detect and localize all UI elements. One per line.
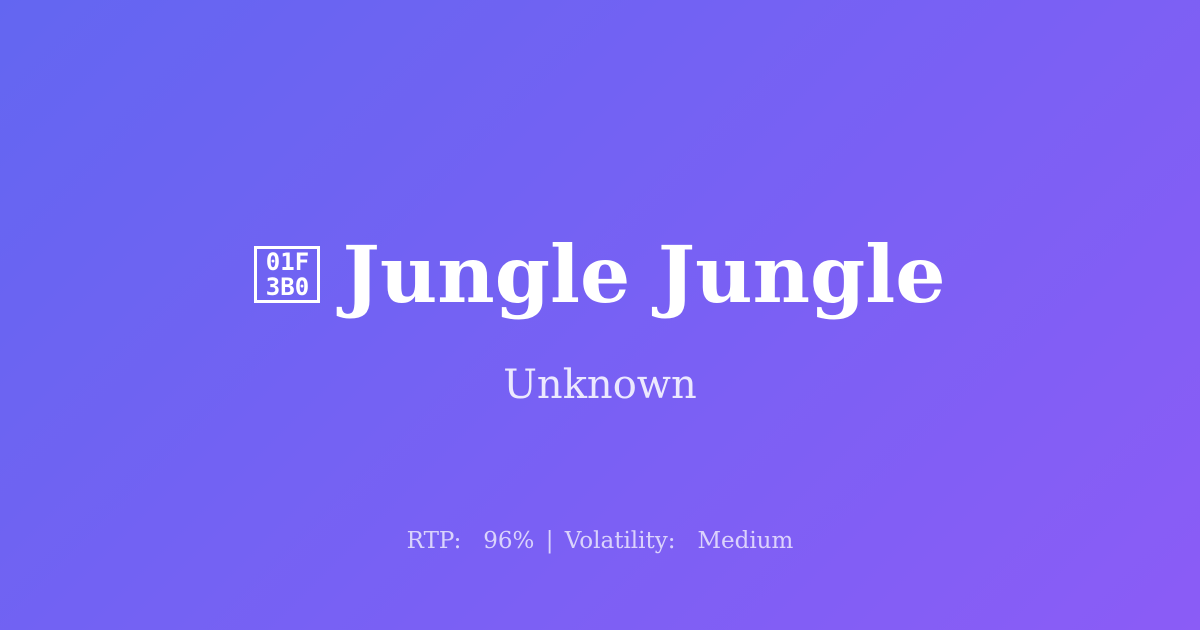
- volatility-value: Medium: [697, 528, 793, 554]
- slot-machine-emoji-icon: 01F 3B0: [254, 246, 320, 303]
- page-subtitle: Unknown: [503, 363, 697, 407]
- rtp-label: RTP:: [407, 528, 462, 554]
- rtp-value: 96%: [483, 528, 534, 554]
- stats-separator: |: [542, 528, 558, 554]
- hero-block: 01F 3B0 Jungle Jungle Unknown: [0, 232, 1200, 407]
- game-stats-line: RTP: 96% | Volatility: Medium: [0, 528, 1200, 556]
- title-row: 01F 3B0 Jungle Jungle: [0, 232, 1200, 317]
- volatility-label: Volatility:: [565, 528, 676, 554]
- og-share-card: 01F 3B0 Jungle Jungle Unknown RTP: 96% |…: [0, 0, 1200, 630]
- tofu-codepoint-top: 01F: [266, 250, 309, 275]
- page-title: Jungle Jungle: [342, 232, 945, 317]
- tofu-codepoint-bottom: 3B0: [266, 275, 309, 300]
